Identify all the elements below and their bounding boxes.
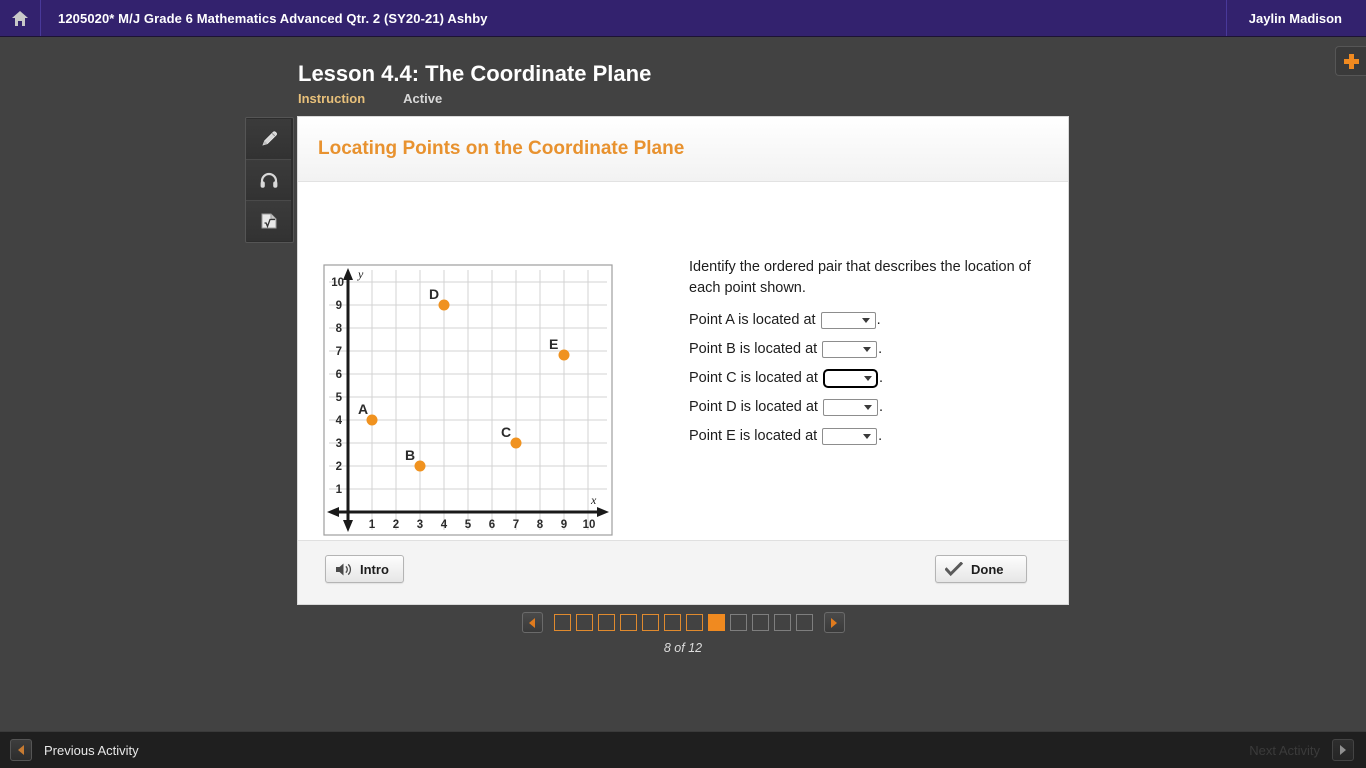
svg-text:3: 3 [336, 438, 342, 450]
pager-square-1[interactable] [554, 614, 571, 631]
svg-text:3: 3 [417, 519, 423, 531]
lesson-header: Lesson 4.4: The Coordinate Plane Instruc… [298, 60, 651, 106]
top-navigation-bar: 1205020* M/J Grade 6 Mathematics Advance… [0, 0, 1366, 36]
answer-row-d: Point D is located at . [689, 397, 1039, 417]
point-A-label: A [358, 401, 368, 417]
answer-select-wrap-e [817, 428, 878, 445]
next-activity-label: Next Activity [1249, 743, 1320, 758]
previous-activity-label: Previous Activity [44, 743, 139, 758]
calculator-icon [258, 210, 280, 232]
svg-text:1: 1 [336, 484, 343, 496]
svg-text:7: 7 [336, 346, 342, 358]
card-title: Locating Points on the Coordinate Plane [318, 138, 684, 160]
card-footer: Intro Done [298, 540, 1068, 604]
y-axis-label: y [357, 267, 364, 281]
add-panel-button[interactable] [1335, 46, 1366, 76]
answer-row-e: Point E is located at . [689, 426, 1039, 446]
answer-select-b[interactable] [822, 341, 877, 358]
point-A-marker [367, 415, 378, 426]
answer-period-d: . [879, 397, 883, 417]
svg-text:5: 5 [336, 392, 343, 404]
arrow-left-icon [529, 618, 535, 628]
answer-label-b: Point B is located at [689, 339, 817, 359]
arrow-right-icon [1340, 745, 1346, 755]
pager-square-7[interactable] [686, 614, 703, 631]
answer-period-b: . [878, 339, 882, 359]
audio-tool-button[interactable] [246, 160, 291, 201]
card-body: y x 1 2 3 4 5 6 7 8 9 10 [298, 182, 1068, 540]
answer-row-c: Point C is located at . [689, 368, 1039, 388]
tab-active[interactable]: Active [403, 91, 442, 106]
draw-tool-button[interactable] [246, 119, 291, 160]
plus-icon [1344, 54, 1359, 69]
point-B-marker [415, 461, 426, 472]
next-activity-icon-box [1332, 739, 1354, 761]
pager-square-4[interactable] [620, 614, 637, 631]
card-header: Locating Points on the Coordinate Plane [298, 117, 1068, 182]
answer-select-wrap-c [818, 369, 879, 388]
lesson-tab-list: Instruction Active [298, 91, 651, 106]
pager-square-9[interactable] [730, 614, 747, 631]
bottom-navigation-bar: Previous Activity Next Activity [0, 731, 1366, 768]
answer-select-d[interactable] [823, 399, 878, 416]
pager-square-6[interactable] [664, 614, 681, 631]
point-E-label: E [549, 336, 558, 352]
previous-activity-icon-box [10, 739, 32, 761]
home-icon [12, 11, 28, 26]
intro-button-label: Intro [360, 562, 389, 577]
answer-label-e: Point E is located at [689, 426, 817, 446]
pager-row [522, 612, 845, 633]
calculator-tool-button[interactable] [246, 201, 291, 241]
answer-select-c[interactable] [823, 369, 878, 388]
intro-button[interactable]: Intro [325, 555, 404, 583]
answer-select-e[interactable] [822, 428, 877, 445]
pencil-icon [258, 128, 280, 150]
svg-text:2: 2 [336, 461, 342, 473]
arrow-right-icon [831, 618, 837, 628]
answer-period-a: . [877, 310, 881, 330]
svg-text:6: 6 [336, 369, 342, 381]
pager-square-3[interactable] [598, 614, 615, 631]
pager-square-8[interactable] [708, 614, 725, 631]
point-D-marker [439, 300, 450, 311]
answer-select-wrap-a [816, 312, 877, 329]
activity-card: Locating Points on the Coordinate Plane [298, 117, 1068, 604]
next-activity-button: Next Activity [1249, 739, 1354, 761]
point-C-label: C [501, 424, 511, 440]
question-column: Identify the ordered pair that describes… [689, 257, 1039, 455]
tool-rail [245, 117, 294, 243]
coordinate-plane-svg: y x 1 2 3 4 5 6 7 8 9 10 [323, 264, 613, 536]
previous-activity-button[interactable]: Previous Activity [10, 739, 139, 761]
check-icon [945, 562, 963, 577]
answer-select-wrap-d [818, 399, 879, 416]
home-button[interactable] [0, 0, 41, 36]
svg-text:9: 9 [561, 519, 567, 531]
point-D-label: D [429, 286, 439, 302]
answer-select-wrap-b [817, 341, 878, 358]
answer-period-e: . [878, 426, 882, 446]
point-C-marker [511, 438, 522, 449]
pager-square-10[interactable] [752, 614, 769, 631]
answer-label-a: Point A is located at [689, 310, 816, 330]
pager-prev-button[interactable] [522, 612, 543, 633]
question-prompt: Identify the ordered pair that describes… [689, 257, 1034, 299]
answer-row-a: Point A is located at . [689, 310, 1039, 330]
svg-text:10: 10 [583, 519, 596, 531]
pager-squares [554, 614, 813, 631]
user-name: Jaylin Madison [1249, 11, 1342, 26]
pager-next-button[interactable] [824, 612, 845, 633]
svg-text:9: 9 [336, 300, 342, 312]
answer-label-d: Point D is located at [689, 397, 818, 417]
activity-pager: 8 of 12 [298, 612, 1068, 655]
app-root: 1205020* M/J Grade 6 Mathematics Advance… [0, 0, 1366, 768]
svg-text:8: 8 [336, 323, 343, 335]
point-B-label: B [405, 447, 415, 463]
svg-text:10: 10 [331, 277, 344, 289]
user-menu[interactable]: Jaylin Madison [1226, 0, 1366, 36]
coordinate-plane-graph: y x 1 2 3 4 5 6 7 8 9 10 [323, 264, 613, 541]
speaker-icon [335, 562, 352, 577]
pager-square-12[interactable] [796, 614, 813, 631]
answer-select-a[interactable] [821, 312, 876, 329]
pager-square-2[interactable] [576, 614, 593, 631]
done-button-label: Done [971, 562, 1004, 577]
headphones-icon [258, 169, 280, 191]
svg-text:4: 4 [441, 519, 448, 531]
svg-text:5: 5 [465, 519, 472, 531]
tab-instruction[interactable]: Instruction [298, 91, 365, 106]
answer-row-b: Point B is located at . [689, 339, 1039, 359]
svg-text:1: 1 [369, 519, 376, 531]
arrow-left-icon [18, 745, 24, 755]
pager-square-11[interactable] [774, 614, 791, 631]
page-title: Lesson 4.4: The Coordinate Plane [298, 60, 651, 88]
point-E-marker [559, 350, 570, 361]
svg-text:8: 8 [537, 519, 544, 531]
pager-square-5[interactable] [642, 614, 659, 631]
answer-label-c: Point C is located at [689, 368, 818, 388]
svg-text:4: 4 [336, 415, 343, 427]
course-title: 1205020* M/J Grade 6 Mathematics Advance… [58, 11, 488, 26]
pager-count-label: 8 of 12 [664, 641, 702, 655]
x-axis-label: x [590, 493, 597, 507]
done-button[interactable]: Done [935, 555, 1027, 583]
svg-text:6: 6 [489, 519, 495, 531]
answer-period-c: . [879, 368, 883, 388]
svg-text:2: 2 [393, 519, 399, 531]
svg-text:7: 7 [513, 519, 519, 531]
